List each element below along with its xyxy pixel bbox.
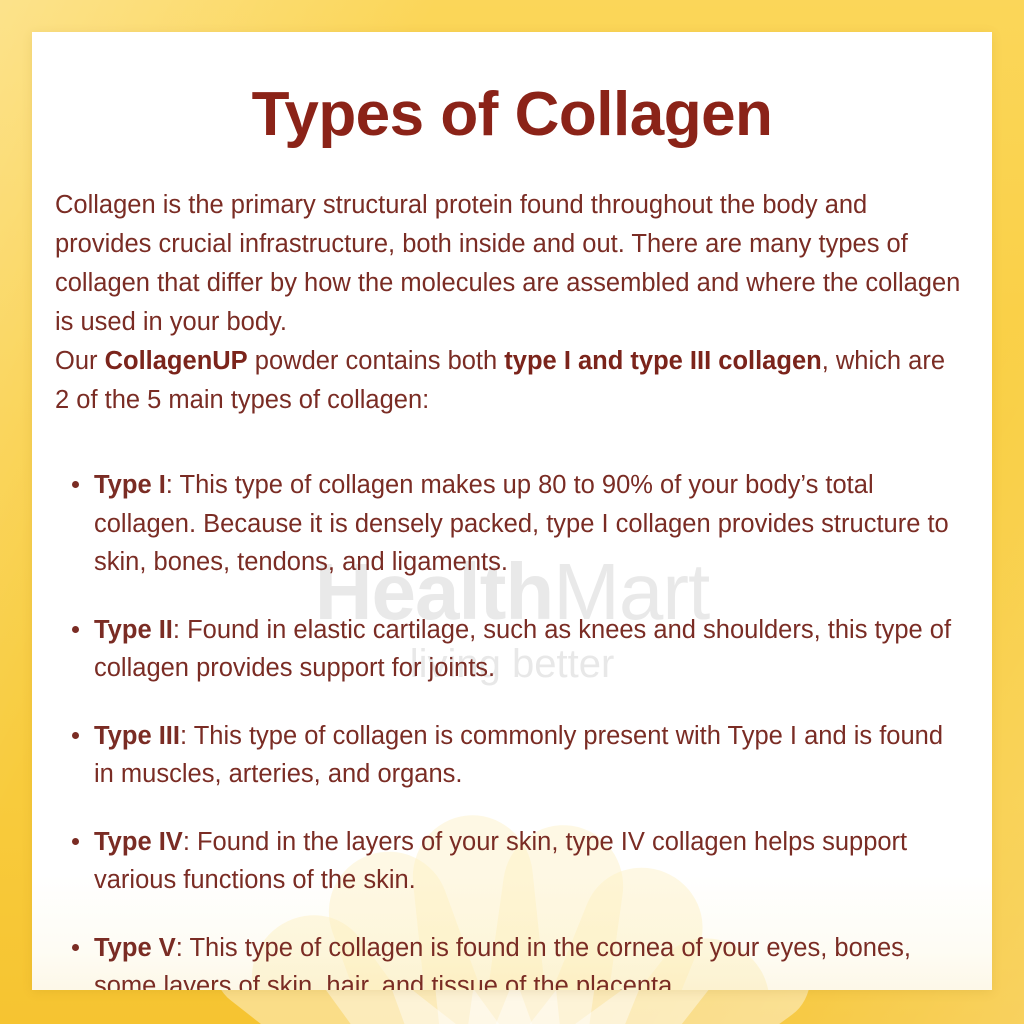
list-item: Type V: This type of collagen is found i… [32, 929, 992, 990]
type-description: This type of collagen is commonly presen… [94, 722, 943, 789]
type-label: Type III [94, 722, 180, 750]
bullet-dot-icon [72, 838, 79, 845]
type-separator: : [173, 616, 187, 644]
brand-name-collagenup: CollagenUP [105, 347, 248, 375]
bullet-dot-icon [72, 481, 79, 488]
type-label: Type II [94, 616, 173, 644]
collagen-types-list: Type I: This type of collagen makes up 8… [32, 466, 992, 990]
intro-mid-text: powder contains both [248, 347, 505, 375]
list-item: Type II: Found in elastic cartilage, suc… [32, 611, 992, 688]
poster-canvas: HealthMart living better Types of Collag… [0, 0, 1024, 1024]
list-item: Type I: This type of collagen makes up 8… [32, 466, 992, 582]
type-separator: : [180, 722, 194, 750]
type-separator: : [166, 471, 180, 499]
bullet-dot-icon [72, 626, 79, 633]
intro-lead-text: Our [55, 347, 105, 375]
type-separator: : [176, 934, 190, 962]
bullet-dot-icon [72, 732, 79, 739]
content-card: HealthMart living better Types of Collag… [32, 32, 992, 990]
list-item: Type IV: Found in the layers of your ski… [32, 823, 992, 900]
document-body: Types of Collagen Collagen is the primar… [32, 32, 992, 990]
intro-paragraph-1: Collagen is the primary structural prote… [32, 186, 992, 342]
type-description: Found in the layers of your skin, type I… [94, 828, 907, 895]
intro-paragraph-1-text: Collagen is the primary structural prote… [55, 191, 960, 336]
bullet-dot-icon [72, 944, 79, 951]
list-item: Type III: This type of collagen is commo… [32, 717, 992, 794]
type-description: This type of collagen makes up 80 to 90%… [94, 471, 949, 576]
highlight-types: type I and type III collagen [504, 347, 821, 375]
intro-paragraph-2: Our CollagenUP powder contains both type… [32, 342, 992, 420]
page-title: Types of Collagen [32, 32, 992, 147]
type-description: Found in elastic cartilage, such as knee… [94, 616, 951, 683]
type-description: This type of collagen is found in the co… [94, 934, 911, 990]
type-separator: : [183, 828, 197, 856]
type-label: Type IV [94, 828, 183, 856]
type-label: Type V [94, 934, 176, 962]
type-label: Type I [94, 471, 166, 499]
